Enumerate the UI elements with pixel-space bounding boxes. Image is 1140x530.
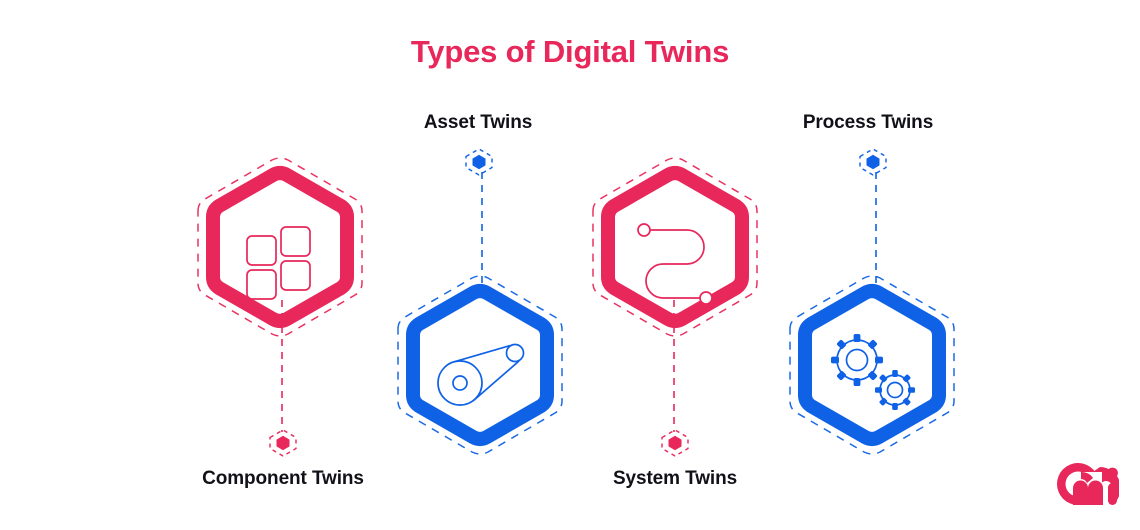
belt-pulley-icon <box>438 345 524 406</box>
hex-dashed-outline <box>398 276 562 454</box>
hex-border <box>213 173 347 321</box>
infographic-canvas: Types of Digital Twins Asset Twins Proce… <box>0 0 1140 530</box>
dot-marker-system[interactable] <box>658 426 692 460</box>
page-title: Types of Digital Twins <box>0 34 1140 70</box>
hex-border <box>413 291 547 439</box>
node-label-system-twins: System Twins <box>575 468 775 490</box>
mi-logo-mark <box>1057 463 1119 505</box>
dot-core <box>473 155 486 169</box>
hex-dashed-outline <box>790 276 954 454</box>
mi-logo[interactable] <box>1057 461 1119 511</box>
dot-core <box>867 155 880 169</box>
dot-core <box>669 436 682 450</box>
node-label-process-twins: Process Twins <box>768 112 968 134</box>
dot-marker-asset[interactable] <box>462 145 496 179</box>
dot-marker-component[interactable] <box>266 426 300 460</box>
node-label-asset-twins: Asset Twins <box>378 112 578 134</box>
dot-marker-process[interactable] <box>856 145 890 179</box>
two-gears-icon <box>831 334 915 410</box>
dot-core <box>277 436 290 450</box>
hex-card-system-twins[interactable] <box>575 147 775 347</box>
hex-border <box>805 291 939 439</box>
four-squares-grid-icon <box>247 227 310 299</box>
hex-card-asset-twins[interactable] <box>380 265 580 465</box>
hex-card-process-twins[interactable] <box>772 265 972 465</box>
hex-dashed-outline <box>198 158 362 336</box>
s-curve-path-icon <box>638 224 712 304</box>
hex-card-component-twins[interactable] <box>180 147 380 347</box>
node-label-component-twins: Component Twins <box>183 468 383 490</box>
hex-dashed-outline <box>593 158 757 336</box>
